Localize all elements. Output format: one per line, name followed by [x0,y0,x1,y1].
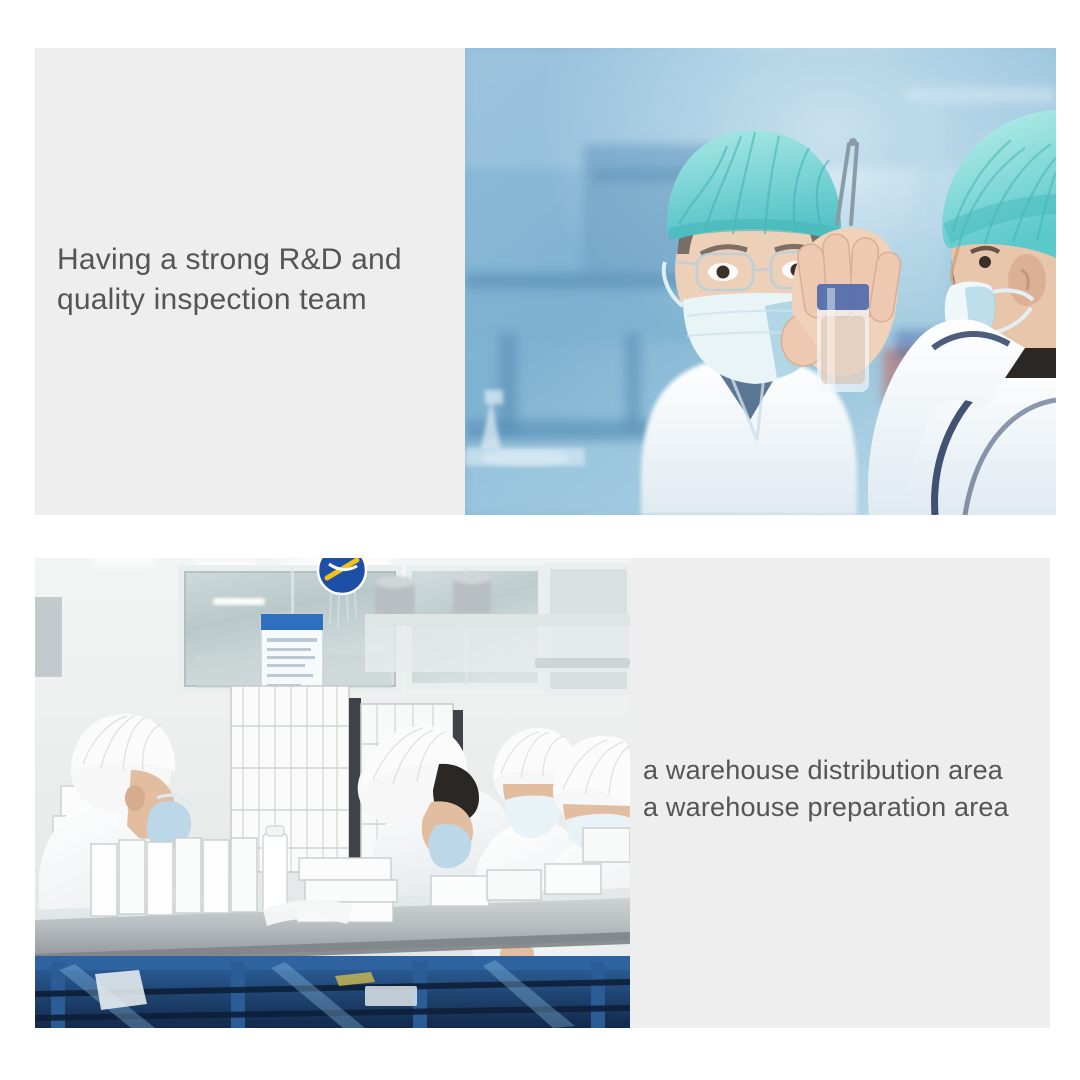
under-table-rack [35,956,630,1028]
lab-technicians-photo [465,48,1056,515]
warehouse-packing-illustration [35,558,630,1028]
warehouse-caption: a warehouse distribution area a warehous… [643,752,1043,826]
lab-technicians-illustration [465,48,1056,515]
blue-circular-sign [318,558,366,594]
rnd-quality-caption: Having a strong R&D and quality inspecti… [57,240,457,320]
warehouse-packing-photo [35,558,630,1028]
page-root: Having a strong R&D and quality inspecti… [0,0,1080,1080]
